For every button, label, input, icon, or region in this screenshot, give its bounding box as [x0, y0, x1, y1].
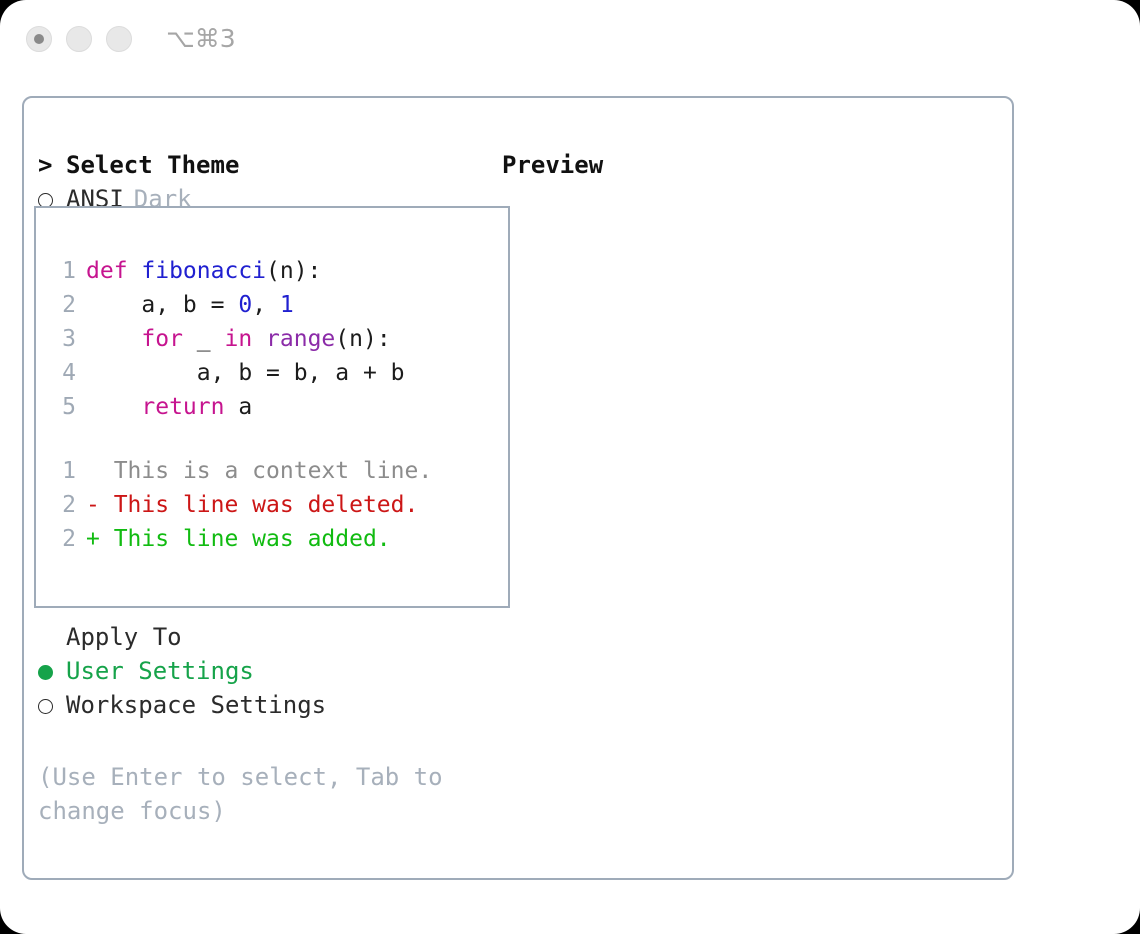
- code-preview-area: 1def fibonacci(n):2 a, b = 0, 13 for _ i…: [50, 254, 498, 556]
- diff-sign: +: [86, 526, 100, 552]
- theme-picker-panel: > Select Theme ANSIDarkAtom OneDarkAyuDa…: [22, 96, 1014, 880]
- prompt-caret-icon: >: [38, 148, 66, 182]
- code-line-text: a, b = 0, 1: [86, 288, 294, 322]
- code-token: (n):: [335, 326, 390, 352]
- code-token: [86, 394, 141, 420]
- preview-title: Preview: [502, 148, 1002, 182]
- code-token: in: [224, 326, 252, 352]
- code-token: (n):: [266, 258, 321, 284]
- code-token: a, b =: [86, 292, 238, 318]
- code-token: a, b = b, a + b: [86, 360, 405, 386]
- code-line-number: 1: [50, 254, 76, 288]
- code-token: 1: [280, 292, 294, 318]
- diff-line-text: This is a context line.: [86, 454, 432, 488]
- diff-sign: -: [86, 492, 100, 518]
- window-titlebar: ⌥⌘3: [0, 0, 1140, 78]
- apply-to-label: Apply To: [38, 620, 488, 654]
- code-diff-spacer: [50, 424, 498, 454]
- code-token: a: [224, 394, 252, 420]
- code-line-number: 4: [50, 356, 76, 390]
- code-token: return: [141, 394, 224, 420]
- diff-text: This line was deleted.: [100, 492, 419, 518]
- apply-to-option-label: User Settings: [66, 654, 254, 688]
- code-line: 2 a, b = 0, 1: [50, 288, 498, 322]
- diff-line: 2- This line was deleted.: [50, 488, 498, 522]
- traffic-light-close-icon: [34, 34, 44, 44]
- diff-line-number: 2: [50, 522, 76, 556]
- code-line-text: return a: [86, 390, 252, 424]
- code-line-number: 5: [50, 390, 76, 424]
- diff-line-text: - This line was deleted.: [86, 488, 418, 522]
- preview-box: 1def fibonacci(n):2 a, b = 0, 13 for _ i…: [34, 206, 510, 608]
- diff-line: 1 This is a context line.: [50, 454, 498, 488]
- diff-text: This is a context line.: [100, 458, 432, 484]
- code-line: 3 for _ in range(n):: [50, 322, 498, 356]
- code-line: 4 a, b = b, a + b: [50, 356, 498, 390]
- code-token: ,: [252, 292, 280, 318]
- diff-line-text: + This line was added.: [86, 522, 391, 556]
- code-token: def: [86, 258, 141, 284]
- select-theme-heading: > Select Theme: [38, 148, 488, 182]
- traffic-light-close-button[interactable]: [26, 26, 52, 52]
- code-line-text: def fibonacci(n):: [86, 254, 321, 288]
- apply-to-list-item[interactable]: Workspace Settings: [38, 688, 488, 722]
- code-token: range: [266, 326, 335, 352]
- apply-to-option-label: Workspace Settings: [66, 688, 326, 722]
- keyboard-shortcut-label: ⌥⌘3: [166, 23, 236, 55]
- diff-sign: [86, 458, 100, 484]
- traffic-light-minimize-button[interactable]: [66, 26, 92, 52]
- apply-to-option-list: User SettingsWorkspace Settings: [38, 654, 488, 722]
- code-token: _: [183, 326, 225, 352]
- preview-column: Preview: [502, 148, 1002, 182]
- code-token: fibonacci: [141, 258, 266, 284]
- traffic-light-zoom-button[interactable]: [106, 26, 132, 52]
- keyboard-hint-text: (Use Enter to select, Tab to change focu…: [38, 760, 468, 828]
- diff-line-number: 1: [50, 454, 76, 488]
- code-token: 0: [238, 292, 252, 318]
- code-line-number: 3: [50, 322, 76, 356]
- code-line-number: 2: [50, 288, 76, 322]
- diff-line-number: 2: [50, 488, 76, 522]
- code-token: [86, 326, 141, 352]
- code-line: 1def fibonacci(n):: [50, 254, 498, 288]
- code-token: for: [141, 326, 183, 352]
- apply-to-list-item[interactable]: User Settings: [38, 654, 488, 688]
- code-token: [252, 326, 266, 352]
- diff-line: 2+ This line was added.: [50, 522, 498, 556]
- app-window: ⌥⌘3 > Select Theme ANSIDarkAtom OneDarkA…: [0, 0, 1140, 934]
- code-line-text: a, b = b, a + b: [86, 356, 405, 390]
- code-line-text: for _ in range(n):: [86, 322, 391, 356]
- code-line: 5 return a: [50, 390, 498, 424]
- diff-text: This line was added.: [100, 526, 391, 552]
- select-theme-heading-label: Select Theme: [66, 148, 239, 182]
